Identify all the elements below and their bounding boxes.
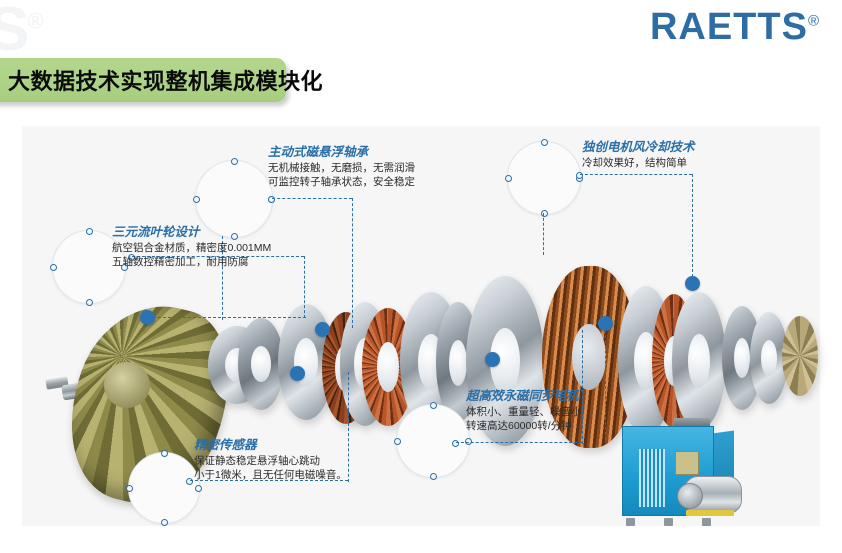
callout-pmsm-motor: 超高效永磁同步电机 体积小、重量轻、噪音小 转速高达60000转/分钟 bbox=[466, 388, 582, 433]
leader-line-impeller-v bbox=[304, 256, 305, 318]
callout-pmsm-motor-heading: 超高效永磁同步电机 bbox=[466, 388, 582, 404]
cabinet-foot-mid bbox=[664, 518, 673, 526]
magnetic-bearing-bore-2 bbox=[377, 342, 399, 392]
motor-thumbnail[interactable] bbox=[396, 404, 470, 478]
rotor-sleeve-bore bbox=[449, 340, 467, 386]
background-watermark: S® bbox=[0, 0, 42, 65]
node-dot-sensor bbox=[290, 366, 305, 381]
callout-magnetic-bearing: 主动式磁悬浮轴承 无机械接触，无磨损，无需润滑 可监控转子轴承状态，安全稳定 bbox=[268, 144, 415, 189]
callout-magnetic-bearing-line-1: 无机械接触，无磨损，无需润滑 bbox=[268, 161, 415, 175]
brand-logo: RAETTS® bbox=[650, 8, 820, 46]
thumbnail-node-top bbox=[430, 402, 437, 409]
leader-line-bearing-h bbox=[272, 198, 352, 199]
leader-line-cooling-h bbox=[580, 174, 692, 175]
leader-line-sensor-v bbox=[348, 372, 349, 482]
slide-title-banner: 大数据技术实现整机集成模块化 bbox=[0, 58, 286, 102]
blower-base-plate bbox=[686, 510, 734, 516]
callout-pmsm-motor-line-2: 转速高达60000转/分钟 bbox=[466, 419, 582, 433]
brand-logo-text: RAETTS bbox=[650, 6, 808, 48]
thumbnail-node-left bbox=[505, 175, 512, 182]
callout-sensor-line-1: 保证静态稳定悬浮轴心跳动 bbox=[194, 454, 347, 468]
leader-line-cooling-v bbox=[692, 174, 693, 282]
leader-line-motor-h bbox=[456, 442, 582, 443]
callout-magnetic-bearing-line-2: 可监控转子轴承状态，安全稳定 bbox=[268, 175, 415, 189]
cabinet-control-window bbox=[675, 451, 699, 475]
callout-pmsm-motor-line-1: 体积小、重量轻、噪音小 bbox=[466, 405, 582, 419]
cabinet-foot-left bbox=[626, 518, 635, 526]
blower-motor-unit bbox=[684, 476, 742, 514]
rotor-core-bore bbox=[572, 324, 606, 390]
callout-impeller-line-1: 航空铝合金材质，精密度0.001MM bbox=[112, 241, 271, 255]
fan-thumbnail[interactable] bbox=[507, 141, 581, 215]
thumbnail-node-top bbox=[161, 450, 168, 457]
rear-flange-bore bbox=[688, 334, 710, 388]
thumbnail-node-left bbox=[193, 196, 200, 203]
thumbnail-node-top bbox=[231, 158, 238, 165]
thumbnail-node-top bbox=[86, 228, 93, 235]
rear-end-cap-bore bbox=[761, 340, 777, 376]
watermark-registered-mark: ® bbox=[27, 8, 41, 33]
callout-sensor-heading: 精密传感器 bbox=[194, 437, 347, 453]
callout-air-cooling-line-1: 冷却效果好，结构简单 bbox=[582, 156, 695, 170]
callout-impeller-line-2: 五轴数控精密加工，耐用防腐 bbox=[112, 255, 271, 269]
cabinet-foot-right bbox=[702, 518, 711, 526]
node-dot-motor bbox=[485, 352, 500, 367]
thumbnail-node-bottom bbox=[161, 519, 168, 526]
node-dot-cooling-fan bbox=[685, 276, 700, 291]
page-title: 大数据技术实现整机集成模块化 bbox=[8, 64, 323, 96]
watermark-letter: S bbox=[0, 0, 27, 64]
callout-air-cooling: 独创电机风冷却技术 冷却效果好，结构简单 bbox=[582, 139, 695, 170]
leader-line-cabinet bbox=[605, 330, 606, 440]
rear-flange-plate bbox=[672, 292, 726, 430]
blower-cabinet-product bbox=[612, 418, 740, 526]
thumbnail-node-left bbox=[126, 485, 133, 492]
callout-impeller-heading: 三元流叶轮设计 bbox=[112, 224, 271, 240]
node-dot-bearing-front bbox=[315, 322, 330, 337]
cooling-fan-part bbox=[782, 316, 818, 396]
thumbnail-node-bottom bbox=[430, 473, 437, 480]
node-dot-rear-bearing bbox=[598, 316, 613, 331]
registered-trademark-icon: ® bbox=[808, 12, 820, 29]
thumbnail-node-left bbox=[50, 264, 57, 271]
thumbnail-node-bottom bbox=[86, 299, 93, 306]
thumbnail-node-top bbox=[541, 139, 548, 146]
callout-impeller: 三元流叶轮设计 航空铝合金材质，精密度0.001MM 五轴数控精密加工，耐用防腐 bbox=[112, 224, 271, 269]
thumbnail-node-left bbox=[394, 438, 401, 445]
leader-line-cooling-thumb bbox=[543, 213, 544, 255]
impeller-hub bbox=[104, 362, 150, 408]
callout-sensor-line-2: 小于1微米，且无任何电磁噪音。 bbox=[194, 468, 347, 482]
bearing-bore-2 bbox=[251, 346, 271, 382]
callout-magnetic-bearing-heading: 主动式磁悬浮轴承 bbox=[268, 144, 415, 160]
blower-inlet-hub bbox=[677, 483, 703, 509]
cabinet-air-louvre bbox=[639, 449, 665, 507]
rear-bearing-bore bbox=[734, 338, 750, 378]
thumbnail-node-right bbox=[195, 485, 202, 492]
leader-line-bearing-v bbox=[352, 198, 353, 328]
callout-sensor: 精密传感器 保证静态稳定悬浮轴心跳动 小于1微米，且无任何电磁噪音。 bbox=[194, 437, 347, 482]
leader-line-motor-v bbox=[582, 330, 583, 444]
leader-line-impeller-node bbox=[148, 317, 306, 318]
sensor-thumbnail[interactable] bbox=[128, 452, 200, 524]
callout-air-cooling-heading: 独创电机风冷却技术 bbox=[582, 139, 695, 155]
